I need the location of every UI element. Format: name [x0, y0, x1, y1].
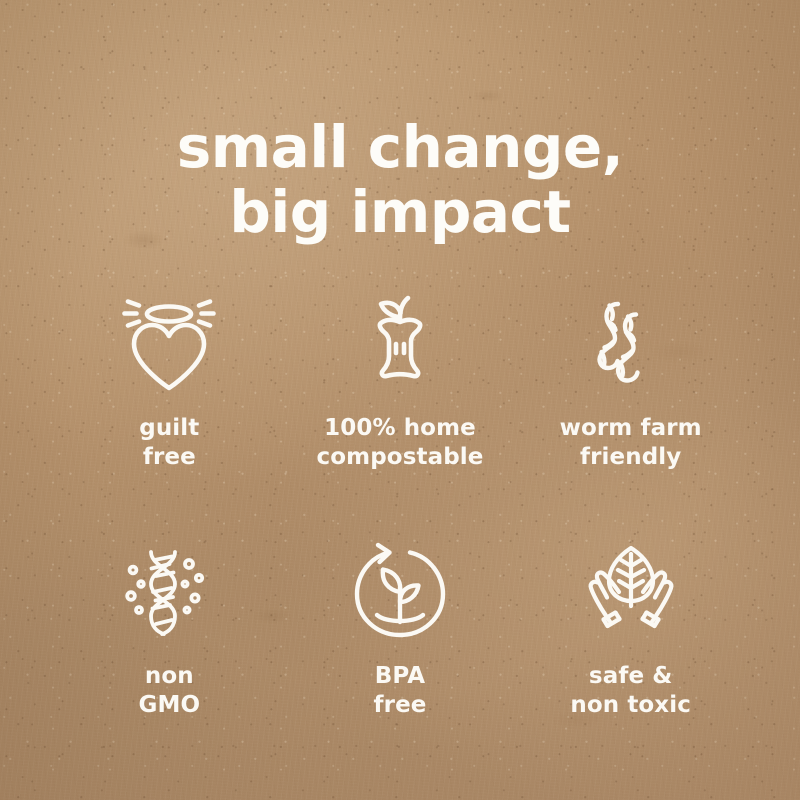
feature-label: worm farm friendly: [560, 414, 702, 472]
kraft-poster: small change, big impact: [0, 0, 800, 800]
feature-label-line-1: safe &: [570, 662, 691, 691]
feature-grid: guilt free 100% home comp: [54, 292, 746, 788]
feature-label: guilt free: [139, 414, 199, 472]
feature-safe-non-toxic: safe & non toxic: [515, 540, 746, 788]
feature-label: BPA free: [374, 662, 427, 720]
feature-label-line-1: 100% home: [317, 414, 484, 443]
feature-bpa-free: BPA free: [285, 540, 516, 788]
feature-non-gmo: non GMO: [54, 540, 285, 788]
feature-label-line-1: guilt: [139, 414, 199, 443]
feature-guilt-free: guilt free: [54, 292, 285, 540]
headline-line-2: big impact: [0, 180, 800, 245]
feature-label-line-2: non toxic: [570, 691, 691, 720]
hands-leaf-icon: [579, 540, 683, 644]
feature-label: safe & non toxic: [570, 662, 691, 720]
dna-helix-icon: [117, 540, 221, 644]
feature-label: 100% home compostable: [317, 414, 484, 472]
feature-home-compostable: 100% home compostable: [285, 292, 516, 540]
headline-line-1: small change,: [0, 115, 800, 180]
poster-content: small change, big impact: [0, 0, 800, 800]
apple-core-icon: [348, 292, 452, 396]
feature-label-line-2: friendly: [560, 443, 702, 472]
feature-label-line-2: compostable: [317, 443, 484, 472]
halo-heart-icon: [117, 292, 221, 396]
feature-worm-farm-friendly: worm farm friendly: [515, 292, 746, 540]
feature-label-line-2: free: [139, 443, 199, 472]
feature-label-line-1: non: [139, 662, 201, 691]
feature-label: non GMO: [139, 662, 201, 720]
feature-label-line-1: worm farm: [560, 414, 702, 443]
worms-icon: [579, 292, 683, 396]
feature-label-line-1: BPA: [374, 662, 427, 691]
feature-label-line-2: free: [374, 691, 427, 720]
recycle-sprout-icon: [348, 540, 452, 644]
feature-label-line-2: GMO: [139, 691, 201, 720]
page-title: small change, big impact: [0, 115, 800, 245]
